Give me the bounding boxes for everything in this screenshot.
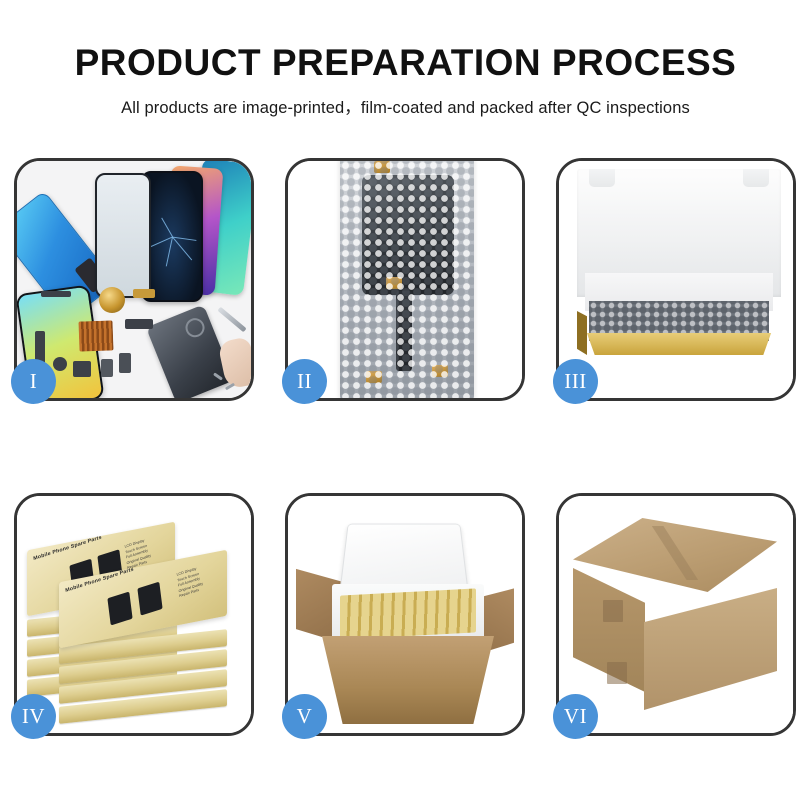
box-window-image-3 <box>107 591 132 625</box>
step-image-3 <box>559 161 793 398</box>
bubble-wrap-package <box>340 161 474 398</box>
stacked-gold-boxes <box>340 588 476 639</box>
screw-part-icon-2 <box>225 383 235 391</box>
page-subtitle: All products are image-printed，film-coat… <box>0 94 811 118</box>
step-image-5 <box>288 496 522 733</box>
gold-box-stack-illustration: Mobile Phone Spare Parts LCD Display Tou… <box>17 496 251 733</box>
page-title: PRODUCT PREPARATION PROCESS <box>0 44 811 83</box>
kraft-tray-front <box>581 333 777 355</box>
step-badge-3: III <box>553 359 598 404</box>
flex-cable-part-icon <box>41 291 71 297</box>
step-badge-4: IV <box>11 694 56 739</box>
phone-parts-collage-illustration <box>17 161 251 398</box>
step-card-5[interactable]: V <box>285 493 525 736</box>
step-badge-6: VI <box>553 694 598 739</box>
carton-tape-patch-top <box>603 600 623 622</box>
sealed-carton-illustration <box>559 496 793 733</box>
bubble-wrapped-screen-illustration <box>288 161 522 398</box>
foam-lid <box>340 524 468 589</box>
small-flex-part-icon <box>125 319 153 329</box>
step-card-2[interactable]: II <box>285 158 525 401</box>
step-image-4: Mobile Phone Spare Parts LCD Display Tou… <box>17 496 251 733</box>
camera-module-part-icon <box>73 361 91 377</box>
header: PRODUCT PREPARATION PROCESS All products… <box>0 0 811 118</box>
step-badge-1: I <box>11 359 56 404</box>
screwdriver-tool-icon <box>217 307 246 333</box>
glass-panel-icon <box>95 173 151 298</box>
step-badge-2: II <box>282 359 327 404</box>
speaker-coin-part-icon <box>99 287 125 313</box>
open-mailer-box-illustration <box>559 161 793 398</box>
button-part-icon <box>53 357 67 371</box>
step-card-4[interactable]: Mobile Phone Spare Parts LCD Display Tou… <box>14 493 254 736</box>
process-step-grid: I II <box>14 158 797 758</box>
connector-part-icon <box>133 289 155 298</box>
step-card-6[interactable]: VI <box>556 493 796 736</box>
step-image-6 <box>559 496 793 733</box>
carton-body <box>322 636 494 724</box>
mesh-grille-part-icon <box>78 320 113 351</box>
step-card-1[interactable]: I <box>14 158 254 401</box>
step-image-1 <box>17 161 251 398</box>
step-badge-5: V <box>282 694 327 739</box>
step-card-3[interactable]: III <box>556 158 796 401</box>
sim-tray-part-icon <box>101 359 113 377</box>
foam-lined-carton-illustration <box>288 496 522 733</box>
carton-right-face <box>644 588 777 710</box>
box-window-image-4 <box>137 582 162 616</box>
bubble-texture <box>340 161 474 398</box>
battery-connector-part-icon <box>119 353 131 373</box>
carton-tape-patch-bottom <box>607 662 627 684</box>
step-image-2 <box>288 161 522 398</box>
product-preparation-infographic: PRODUCT PREPARATION PROCESS All products… <box>0 0 811 811</box>
kraft-tray-side <box>577 311 587 355</box>
